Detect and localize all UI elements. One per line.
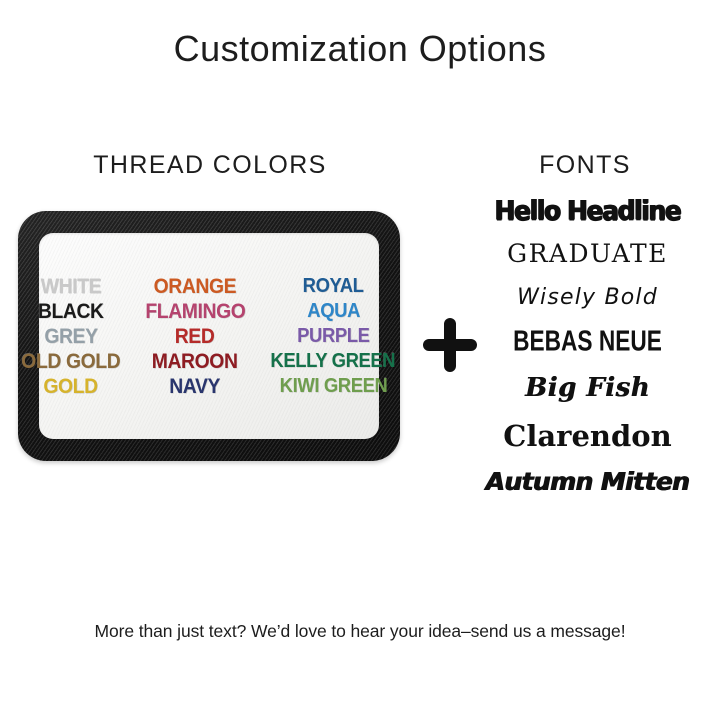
- thread-color-white: WHITE: [41, 274, 101, 299]
- thread-color-old-gold: OLD GOLD: [21, 349, 120, 374]
- thread-color-columns: WHITE BLACK GREY OLD GOLD GOLD ORANGE FL…: [39, 274, 379, 399]
- thread-color-column-left: WHITE BLACK GREY OLD GOLD GOLD: [17, 274, 125, 399]
- thread-color-purple: PURPLE: [297, 324, 369, 349]
- thread-color-kiwi-green: KIWI GREEN: [279, 374, 387, 399]
- thread-color-navy: NAVY: [170, 374, 221, 399]
- page-title: Customization Options: [0, 28, 720, 70]
- thread-colors-heading: THREAD COLORS: [35, 151, 385, 180]
- thread-color-gold: GOLD: [44, 374, 98, 399]
- plus-icon-vertical-bar: [444, 318, 456, 372]
- thread-color-royal: ROYAL: [303, 274, 364, 299]
- footer-message-note: More than just text? We’d love to hear y…: [0, 621, 720, 642]
- thread-color-aqua: AQUA: [307, 299, 360, 324]
- font-sample-wisely-bold: Wisely Bold: [470, 285, 705, 310]
- patch-fabric-area: WHITE BLACK GREY OLD GOLD GOLD ORANGE FL…: [39, 233, 379, 439]
- customization-options-page: Customization Options THREAD COLORS WHIT…: [0, 0, 720, 720]
- thread-color-column-middle: ORANGE FLAMINGO RED MAROON NAVY: [141, 274, 250, 399]
- font-sample-bebas-neue: BEBAS NEUE: [489, 325, 686, 358]
- thread-color-grey: GREY: [44, 324, 97, 349]
- font-sample-clarendon: Clarendon: [470, 419, 705, 453]
- thread-color-column-right: ROYAL AQUA PURPLE KELLY GREEN KIWI GREEN: [265, 274, 401, 399]
- thread-color-red: RED: [175, 324, 215, 349]
- thread-color-black: BLACK: [38, 299, 104, 324]
- font-sample-hello-headline: Hello Headline: [470, 195, 705, 226]
- thread-colors-patch: WHITE BLACK GREY OLD GOLD GOLD ORANGE FL…: [18, 211, 400, 461]
- fonts-list: Hello Headline GRADUATE Wisely Bold BEBA…: [470, 196, 705, 496]
- font-sample-big-fish: Big Fish: [470, 373, 705, 403]
- thread-color-orange: ORANGE: [154, 274, 237, 299]
- thread-color-flamingo: FLAMINGO: [145, 299, 245, 324]
- thread-color-maroon: MAROON: [152, 349, 238, 374]
- font-sample-autumn-mitten: Autumn Mitten: [470, 467, 705, 496]
- fonts-heading: FONTS: [470, 151, 700, 180]
- thread-color-kelly-green: KELLY GREEN: [271, 349, 396, 374]
- font-sample-graduate: GRADUATE: [470, 239, 705, 268]
